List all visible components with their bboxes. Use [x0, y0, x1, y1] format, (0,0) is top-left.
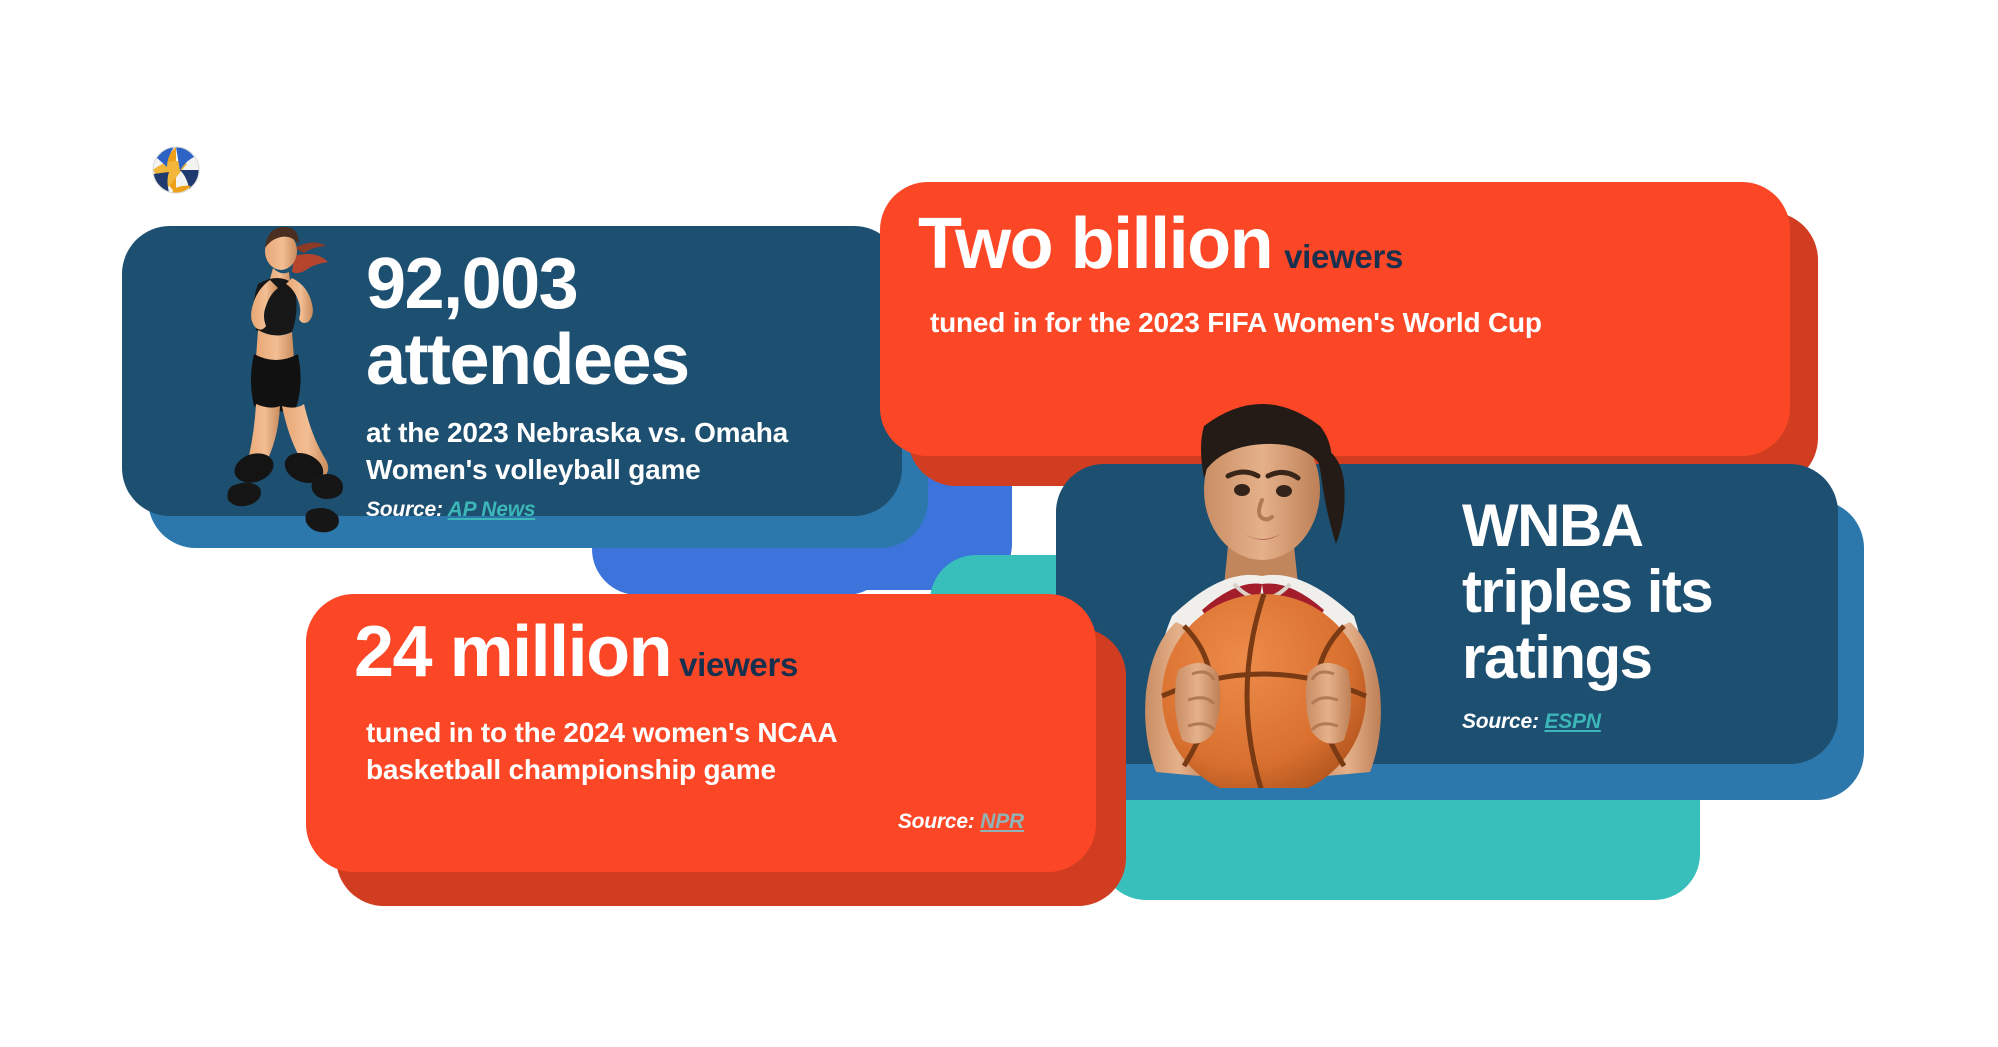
infographic-canvas: 92,003 attendees at the 2023 Nebraska vs…	[0, 0, 1998, 1047]
stat-value-world-cup: Two billion	[918, 204, 1272, 284]
source-link-ap-news[interactable]: AP News	[448, 498, 536, 521]
stat-subtitle-ncaa: tuned in to the 2024 women's NCAA basket…	[366, 714, 926, 788]
source-attendees: Source: AP News	[366, 498, 876, 522]
source-link-npr[interactable]: NPR	[980, 810, 1024, 833]
source-label: Source:	[1462, 710, 1539, 733]
volleyball-icon	[150, 144, 202, 196]
volleyball-player-photo	[198, 218, 358, 548]
source-wnba: Source: ESPN	[1462, 710, 1798, 734]
source-link-espn[interactable]: ESPN	[1544, 710, 1600, 733]
stat-label-attendees: attendees	[366, 320, 689, 400]
stat-value-wnba: WNBA	[1462, 492, 1643, 559]
stat-unit-ncaa: viewers	[679, 646, 798, 683]
stat-unit-world-cup: viewers	[1284, 238, 1403, 275]
stat-value-wnba-line3: ratings	[1462, 624, 1652, 691]
stat-value-wnba-line2: triples its	[1462, 558, 1712, 625]
stat-subtitle-attendees: at the 2023 Nebraska vs. Omaha Women's v…	[366, 414, 836, 488]
source-ncaa: Source: NPR	[354, 810, 1060, 834]
stat-value-attendees: 92,003	[366, 244, 577, 324]
stat-card-ncaa[interactable]: 24 millionviewers tuned in to the 2024 w…	[306, 594, 1096, 872]
source-label: Source:	[366, 498, 443, 521]
source-label: Source:	[898, 810, 975, 833]
stat-subtitle-world-cup: tuned in for the 2023 FIFA Women's World…	[930, 304, 1756, 341]
stat-value-ncaa: 24 million	[354, 612, 671, 692]
